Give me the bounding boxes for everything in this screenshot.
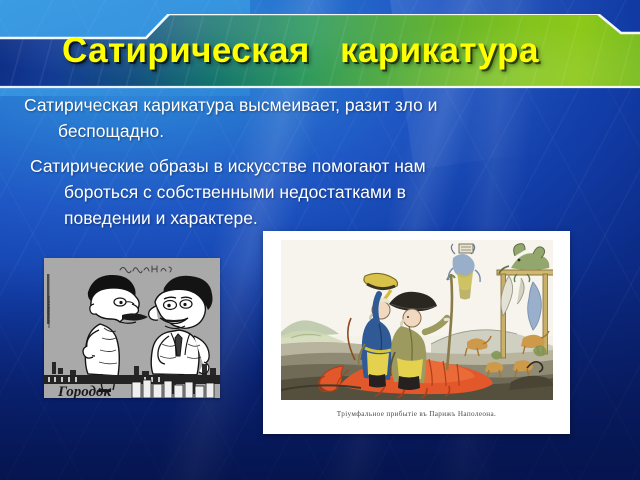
page-title: Сатирическая карикатура <box>0 14 640 88</box>
image-caption: Тріумфальное прибытіе въ Парижъ Наполеон… <box>263 410 570 418</box>
image-napoleon-lubok <box>281 240 553 400</box>
slide-body: Сатирическая карикатура высмеивает, рази… <box>24 92 624 240</box>
paragraph-2-line-1: Сатирические образы в искусстве помогают… <box>30 156 426 176</box>
image-napoleon-lubok-frame: Тріумфальное прибытіе въ Парижъ Наполеон… <box>263 231 570 434</box>
body-paragraph-2: Сатирические образы в искусстве помогают… <box>24 153 624 231</box>
body-paragraph-1: Сатирическая карикатура высмеивает, рази… <box>24 92 624 144</box>
gorodok-label: Городок <box>57 384 112 398</box>
paragraph-2-line-3: поведении и характере. <box>30 205 624 231</box>
svg-text:www.karikatura.ru: www.karikatura.ru <box>46 296 51 328</box>
paragraph-2-line-2: бороться с собственными недостатками в <box>30 179 624 205</box>
paragraph-1-line-2: беспощадно. <box>24 118 624 144</box>
paragraph-1-line-1: Сатирическая карикатура высмеивает, рази… <box>24 95 437 115</box>
image-gorodok-caricature: www.karikatura.ru <box>44 258 220 398</box>
presentation-slide: Сатирическая карикатура Сатирическая кар… <box>0 0 640 480</box>
